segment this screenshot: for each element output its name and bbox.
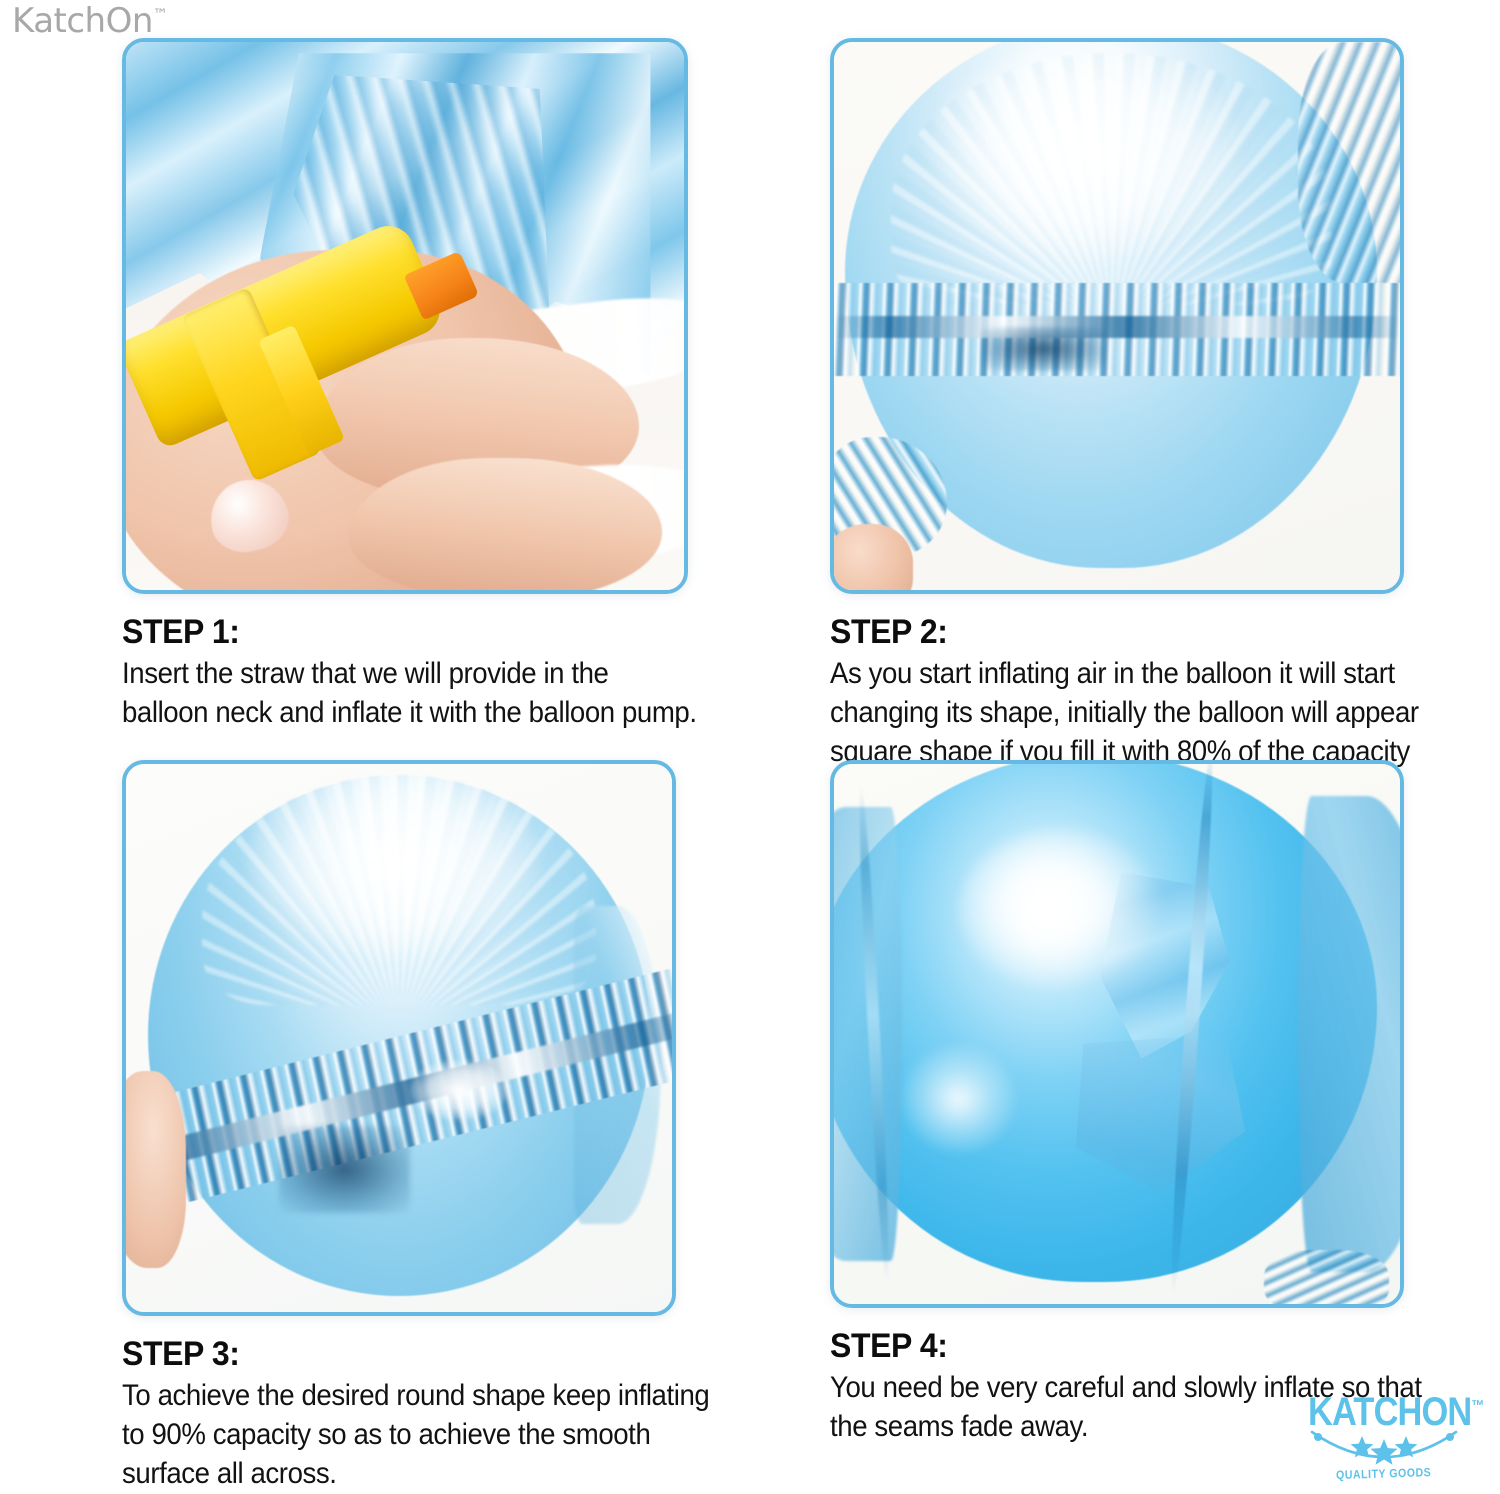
seam-shadow-patch xyxy=(279,1126,410,1214)
step-4-photo-frame xyxy=(830,760,1404,1308)
step-1-body-line-2: balloon neck and inflate it with the bal… xyxy=(122,693,672,732)
badge-dot-left xyxy=(1314,1433,1322,1441)
step-cell-1: STEP 1: Insert the straw that we will pr… xyxy=(100,38,720,750)
balloon-specular-glare xyxy=(959,829,1163,991)
badge-dot-right xyxy=(1446,1433,1454,1441)
balloon-tail-seam xyxy=(1264,1250,1389,1304)
step-3-caption: STEP 3: To achieve the desired round sha… xyxy=(100,1334,720,1493)
hand xyxy=(126,1071,186,1268)
badge-star-center xyxy=(1370,1439,1397,1465)
step-4-title: STEP 4: xyxy=(830,1326,1405,1366)
step-1-photo xyxy=(126,42,684,590)
step-1-caption: STEP 1: Insert the straw that we will pr… xyxy=(100,612,720,732)
step-2-body: As you start inflating air in the balloo… xyxy=(830,654,1393,771)
balloon-edge-crinkle xyxy=(1298,42,1400,283)
step-3-body-line-3: surface all across. xyxy=(122,1454,672,1493)
step-2-body-line-2: changing its shape, initially the balloo… xyxy=(830,693,1393,732)
step-4-photo xyxy=(834,764,1400,1304)
step-1-body-line-1: Insert the straw that we will provide in… xyxy=(122,654,672,693)
step-3-photo-frame xyxy=(122,760,676,1316)
katchon-badge-logo: KATCHON™ QUALITY GOODS xyxy=(1306,1390,1484,1490)
balloon-seam-core xyxy=(834,316,1400,338)
step-3-body-line-2: to 90% capacity so as to achieve the smo… xyxy=(122,1415,672,1454)
step-3-title: STEP 3: xyxy=(122,1334,684,1374)
step-1-photo-frame xyxy=(122,38,688,594)
brand-wordmark-text: KatchOn xyxy=(12,1,153,41)
step-1-title: STEP 1: xyxy=(122,612,684,652)
step-cell-2: STEP 2: As you start inflating air in th… xyxy=(812,38,1442,750)
step-1-body: Insert the straw that we will provide in… xyxy=(122,654,672,732)
badge-tagline: QUALITY GOODS xyxy=(1336,1465,1432,1482)
step-cell-4: STEP 4: You need be very careful and slo… xyxy=(812,760,1442,1494)
middle-finger xyxy=(349,458,661,590)
step-2-caption: STEP 2: As you start inflating air in th… xyxy=(812,612,1442,771)
step-cell-3: STEP 3: To achieve the desired round sha… xyxy=(100,760,720,1494)
instruction-sheet: KatchOn™ STEP 1: xyxy=(0,0,1500,1494)
step-2-title: STEP 2: xyxy=(830,612,1405,652)
step-2-body-line-1: As you start inflating air in the balloo… xyxy=(830,654,1393,693)
trademark-symbol: ™ xyxy=(153,6,168,24)
step-2-photo-frame xyxy=(830,38,1404,594)
seam-shadow-patch xyxy=(981,327,1106,371)
step-3-body: To achieve the desired round shape keep … xyxy=(122,1376,672,1493)
step-3-photo xyxy=(126,764,672,1312)
seam-specular-highlight xyxy=(410,1060,508,1120)
balloon-top-highlight xyxy=(246,769,541,955)
badge-trademark-symbol: ™ xyxy=(1471,1398,1484,1415)
step-3-body-line-1: To achieve the desired round shape keep … xyxy=(122,1376,672,1415)
balloon-right-panel xyxy=(1298,796,1400,1271)
balloon-secondary-glare xyxy=(902,1045,1015,1153)
step-2-photo xyxy=(834,42,1400,590)
brand-wordmark-top: KatchOn™ xyxy=(12,4,168,38)
balloon-top-highlight xyxy=(925,42,1242,261)
